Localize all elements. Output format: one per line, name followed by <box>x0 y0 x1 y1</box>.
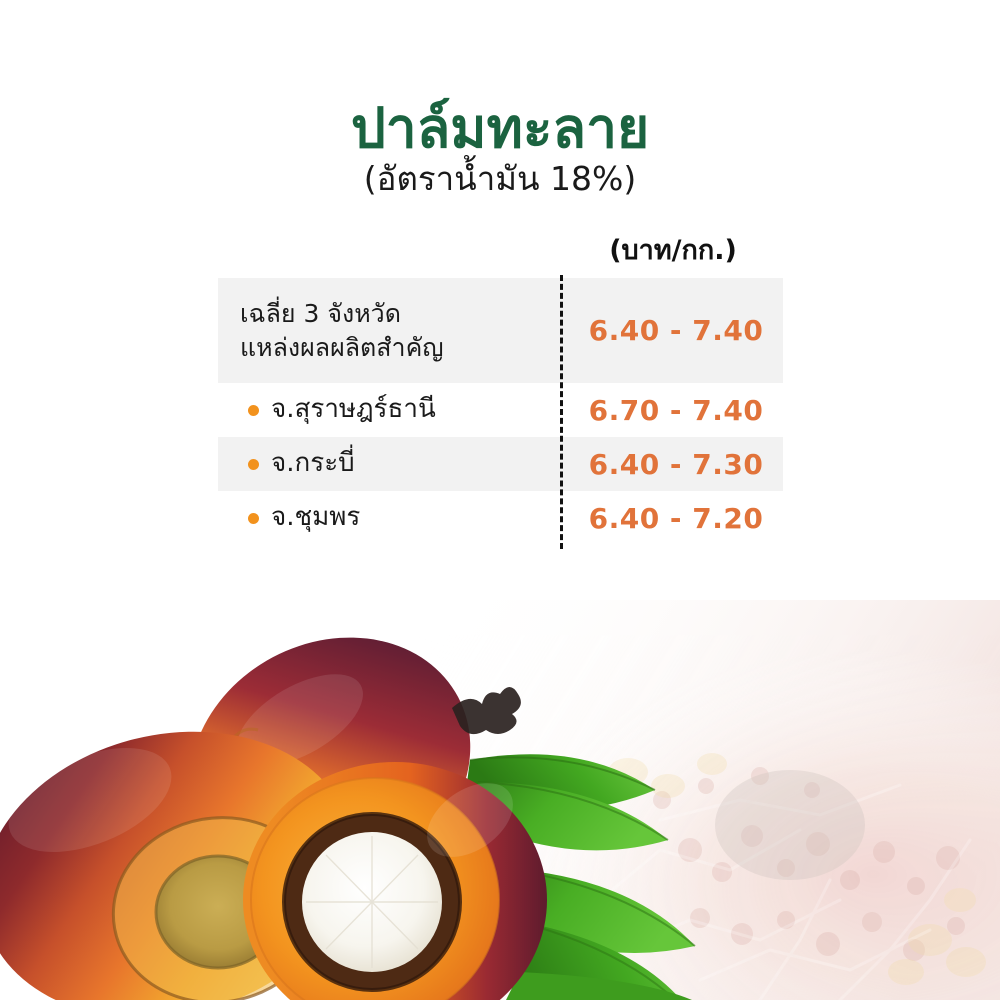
row-label: จ.ชุมพร <box>271 500 360 535</box>
row-price: 6.40 - 7.30 <box>561 448 783 481</box>
bullet-icon <box>248 405 259 416</box>
bullet-icon <box>248 513 259 524</box>
row-price: 6.40 - 7.40 <box>561 314 783 347</box>
table-row: จ.สุราษฎร์ธานี 6.70 - 7.40 <box>218 383 783 437</box>
row-price: 6.40 - 7.20 <box>561 502 783 535</box>
price-unit-label: (บาท/กก.) <box>562 228 784 271</box>
row-label-cell: จ.กระบี่ <box>218 446 561 481</box>
column-divider <box>560 275 563 549</box>
row-label-line2: แหล่งผลผลิตสำคัญ <box>240 331 444 365</box>
page-title: ปาล์มทะลาย <box>0 100 1000 158</box>
row-label: เฉลี่ย 3 จังหวัด แหล่งผลผลิตสำคัญ <box>240 297 444 365</box>
bullet-icon <box>248 459 259 470</box>
table-row: เฉลี่ย 3 จังหวัด แหล่งผลผลิตสำคัญ 6.40 -… <box>218 278 783 383</box>
header: ปาล์มทะลาย (อัตราน้ำมัน 18%) <box>0 100 1000 198</box>
table-row: จ.ชุมพร 6.40 - 7.20 <box>218 491 783 545</box>
row-label: จ.สุราษฎร์ธานี <box>271 392 436 427</box>
table-row: จ.กระบี่ 6.40 - 7.30 <box>218 437 783 491</box>
infographic-page: ปาล์มทะลาย (อัตราน้ำมัน 18%) (บาท/กก.) เ… <box>0 0 1000 1000</box>
page-subtitle: (อัตราน้ำมัน 18%) <box>0 160 1000 198</box>
row-label-cell: จ.สุราษฎร์ธานี <box>218 392 561 427</box>
row-label-cell: เฉลี่ย 3 จังหวัด แหล่งผลผลิตสำคัญ <box>218 297 561 365</box>
row-label: จ.กระบี่ <box>271 446 355 481</box>
row-price: 6.70 - 7.40 <box>561 394 783 427</box>
row-label-cell: จ.ชุมพร <box>218 500 561 535</box>
price-table: เฉลี่ย 3 จังหวัด แหล่งผลผลิตสำคัญ 6.40 -… <box>218 278 783 545</box>
row-label-line1: เฉลี่ย 3 จังหวัด <box>240 297 444 331</box>
palm-fruit-photo <box>0 600 1000 1000</box>
